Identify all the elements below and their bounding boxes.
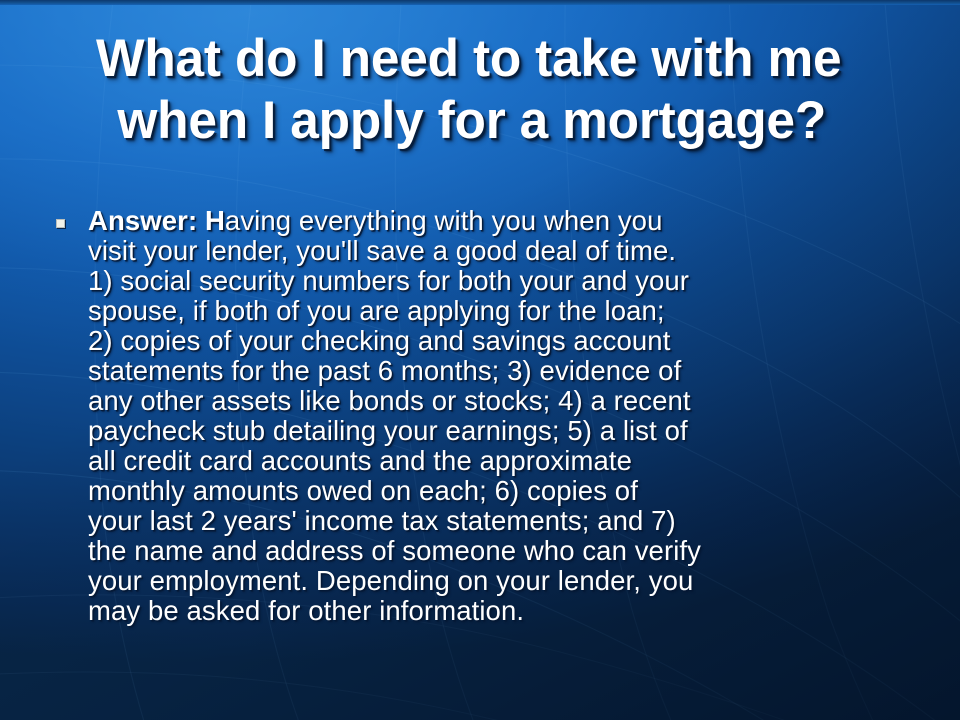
slide-body-bullet-item: Answer: Having everything with you when … [56, 206, 932, 626]
presentation-slide: What do I need to take with me when I ap… [0, 0, 960, 720]
body-line-3: 1) social security numbers for both your… [88, 266, 932, 296]
answer-lead-cap: H [205, 205, 225, 236]
answer-first-line-rest: aving everything with you when you [225, 205, 663, 236]
body-line-14: may be asked for other information. [88, 596, 932, 626]
slide-title-line-1: What do I need to take with me [96, 28, 901, 90]
slide-body-text: Answer: Having everything with you when … [88, 206, 932, 626]
body-line-10: monthly amounts owed on each; 6) copies … [88, 476, 932, 506]
body-line-1: Answer: Having everything with you when … [88, 206, 932, 236]
body-line-8: paycheck stub detailing your earnings; 5… [88, 416, 932, 446]
body-line-12: the name and address of someone who can … [88, 536, 932, 566]
body-line-7: any other assets like bonds or stocks; 4… [88, 386, 932, 416]
body-line-6: statements for the past 6 months; 3) evi… [88, 356, 932, 386]
square-bullet-icon [56, 219, 65, 228]
slide-top-band [0, 0, 960, 5]
body-line-4: spouse, if both of you are applying for … [88, 296, 932, 326]
body-line-9: all credit card accounts and the approxi… [88, 446, 932, 476]
body-line-13: your employment. Depending on your lende… [88, 566, 932, 596]
slide-title-line-2: when I apply for a mortgage? [96, 90, 901, 152]
body-line-2: visit your lender, you'll save a good de… [88, 236, 932, 266]
slide-title: What do I need to take with me when I ap… [96, 28, 926, 152]
body-line-5: 2) copies of your checking and savings a… [88, 326, 932, 356]
answer-label: Answer: [88, 205, 197, 236]
body-line-11: your last 2 years' income tax statements… [88, 506, 932, 536]
